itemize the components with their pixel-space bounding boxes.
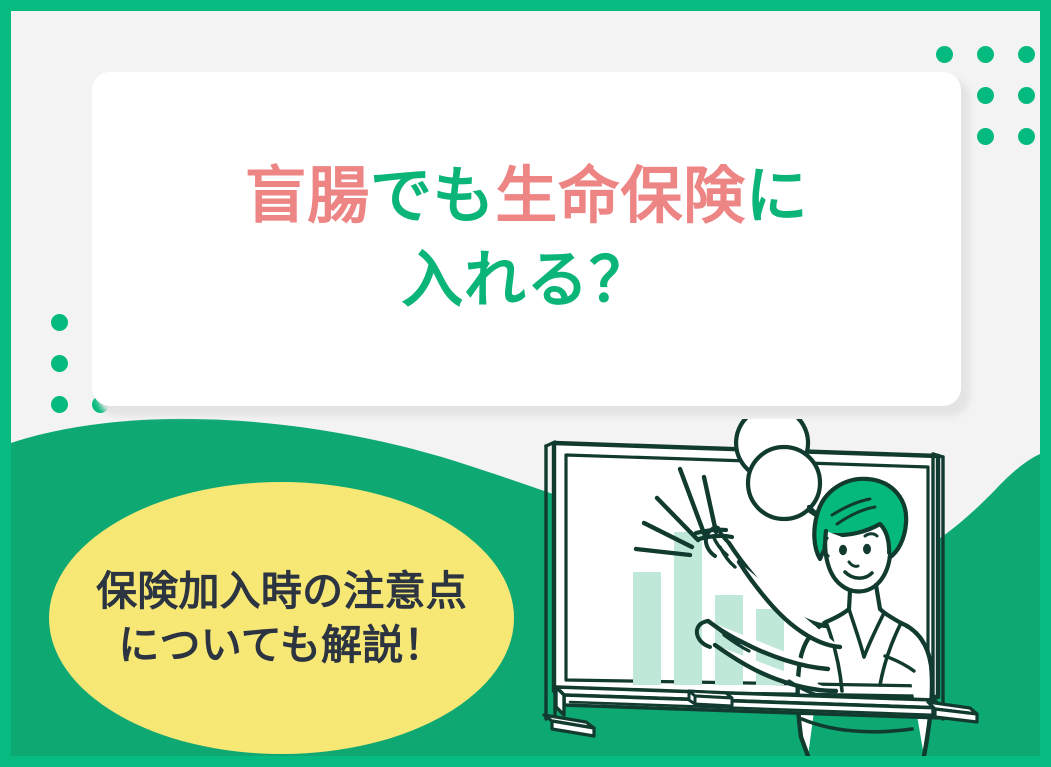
eye-left: [839, 545, 847, 555]
subtitle-badge-text: 保険加入時の注意点 についても解説！: [96, 564, 467, 672]
decor-dot: [51, 314, 68, 331]
frame-border-top: [0, 0, 1051, 11]
decor-dot: [977, 46, 994, 63]
poster-stage: 盲腸でも生命保険に 入れる？ 保険加入時の注意点 についても解説！: [11, 11, 1040, 756]
poster-canvas: 盲腸でも生命保険に 入れる？ 保険加入時の注意点 についても解説！: [0, 0, 1051, 767]
jacket-hem: [802, 719, 912, 732]
subtitle-badge: 保険加入時の注意点 についても解説！: [49, 482, 514, 754]
whiteboard-left-foot: [544, 715, 594, 736]
chart-bar-1: [633, 572, 661, 685]
subtitle-badge-line-1: 保険加入時の注意点: [96, 564, 467, 618]
presenter-illustration: [540, 419, 1040, 756]
title-segment-demo: でも: [370, 162, 495, 231]
page-title-line-2: 入れる？: [245, 239, 809, 323]
frame-border-left: [0, 0, 11, 767]
decor-dot: [51, 396, 68, 413]
decor-dot: [977, 128, 994, 145]
title-segment-moucho: 盲腸: [245, 162, 370, 231]
decor-dot: [51, 355, 68, 372]
whiteboard-eraser: [689, 691, 732, 706]
decor-dot: [1018, 46, 1035, 63]
title-segment-ni: に: [746, 162, 809, 231]
decor-dot: [936, 46, 953, 63]
eye-right: [863, 544, 871, 554]
subtitle-badge-line-2: についても解説！: [96, 618, 467, 672]
frame-border-right: [1040, 0, 1051, 767]
title-segment-haireru: 入れる？: [401, 246, 651, 315]
title-card: 盲腸でも生命保険に 入れる？: [92, 72, 961, 406]
decor-dot: [1018, 128, 1035, 145]
decor-dot: [977, 87, 994, 104]
decor-dot: [1018, 87, 1035, 104]
page-title: 盲腸でも生命保険に 入れる？: [245, 155, 809, 324]
title-segment-seimei-hoken: 生命保険: [495, 162, 745, 231]
page-title-line-1: 盲腸でも生命保険に: [245, 155, 809, 239]
frame-border-bottom: [0, 756, 1051, 767]
